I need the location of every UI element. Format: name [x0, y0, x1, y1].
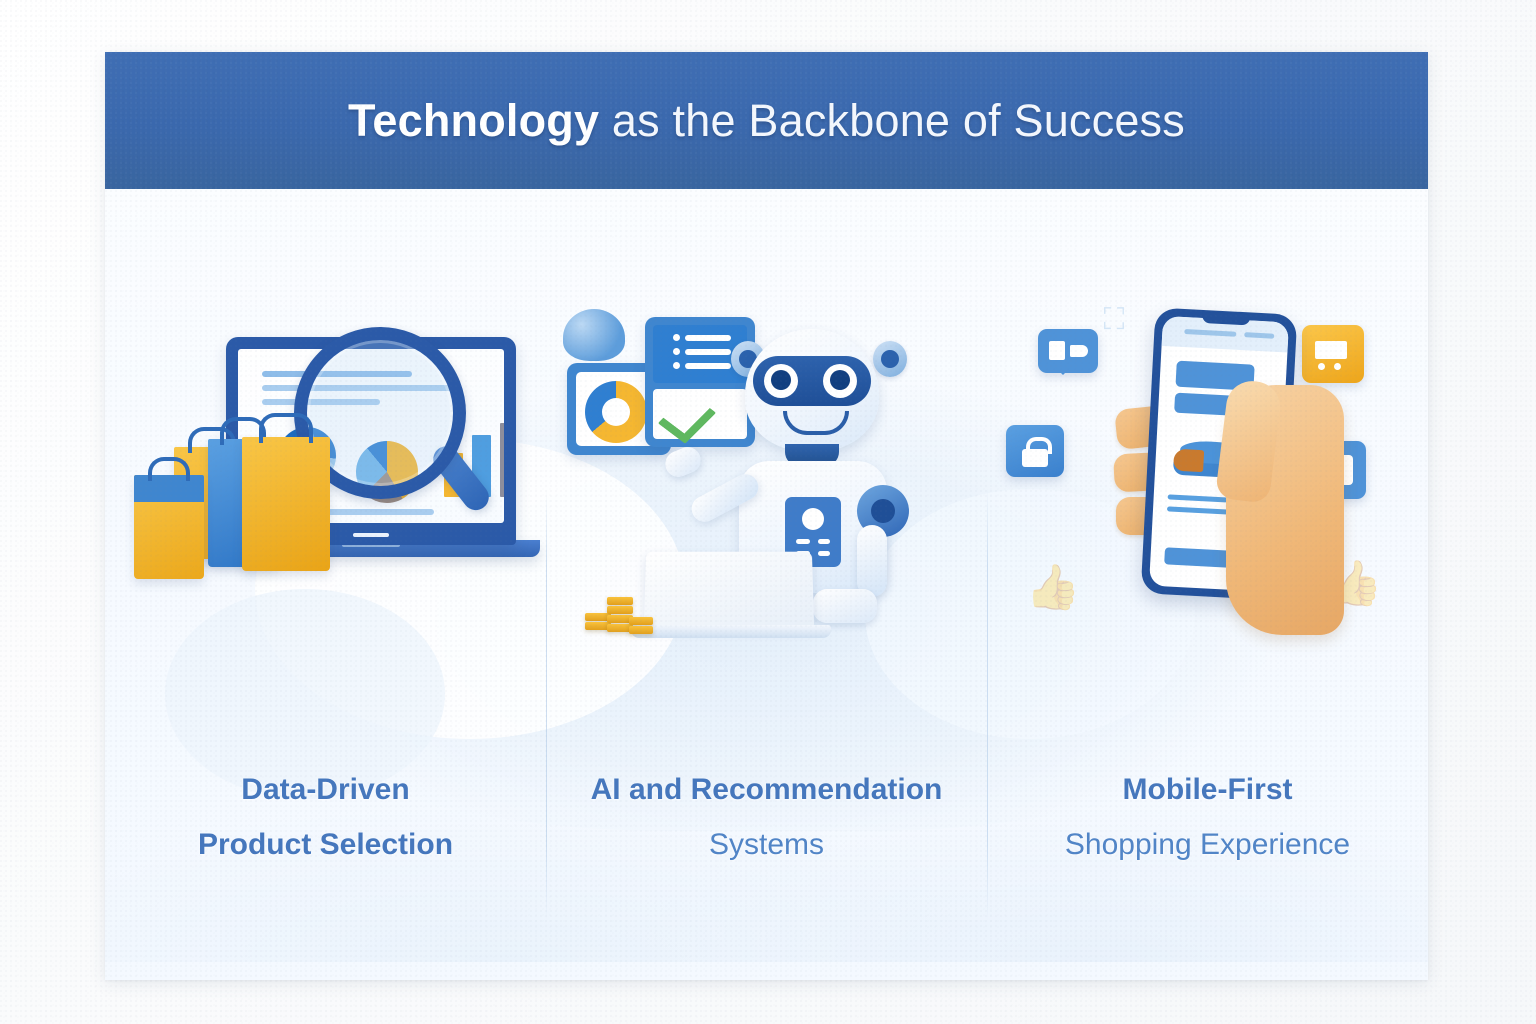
brain-icon [563, 309, 625, 361]
page-title: Technology as the Backbone of Success [348, 95, 1185, 147]
illustration-laptop-analytics-shopping-bags [105, 289, 546, 719]
chat-bubble-icon-left [1038, 329, 1098, 373]
thumbs-up-icon-ghost: 👍 [1026, 561, 1081, 613]
laptop-screen [643, 552, 813, 628]
columns-container: Data-Driven Product Selection [105, 189, 1428, 980]
robot-visor [753, 356, 871, 406]
checklist-card [645, 317, 755, 447]
lock-icon [1006, 425, 1064, 477]
shopping-bag-icon-small [134, 475, 204, 579]
slide-card: Technology as the Backbone of Success [105, 52, 1428, 980]
caption-rest-3: Shopping Experience [1018, 818, 1397, 873]
column-mobile-first-shopping-experience[interactable]: 👍 👍 ✚ ⛶ [987, 189, 1428, 980]
page-title-bold: Technology [348, 95, 599, 146]
slide-body: Data-Driven Product Selection [105, 189, 1428, 980]
column-data-driven-product-selection[interactable]: Data-Driven Product Selection [105, 189, 546, 980]
caption-bold-3: Mobile-First [1018, 763, 1397, 818]
laptop-base [631, 625, 831, 638]
column-divider-2 [987, 489, 988, 919]
robot-arm-right [857, 525, 887, 597]
shopping-cart-icon [1302, 325, 1364, 383]
caption-rest-1: Product Selection [136, 818, 515, 873]
column-ai-and-recommendation-systems[interactable]: AI and Recommendation Systems [546, 189, 987, 980]
column-caption-1: Data-Driven Product Selection [136, 763, 515, 872]
robot-icon [745, 329, 879, 451]
slide-header: Technology as the Backbone of Success [105, 52, 1428, 189]
robot-eye-right [823, 364, 857, 398]
bookmark-icon-ghost: ⛶ [1104, 303, 1125, 337]
column-caption-2: AI and Recommendation Systems [577, 763, 956, 872]
laptop-icon [631, 551, 831, 637]
illustration-hand-holding-smartphone: 👍 👍 ✚ ⛶ [987, 289, 1428, 719]
robot-ear-right [873, 341, 907, 377]
column-caption-3: Mobile-First Shopping Experience [1018, 763, 1397, 872]
caption-bold-2: AI and Recommendation [577, 763, 956, 818]
robot-eye-left [764, 364, 798, 398]
laptop-trackpad-notch [353, 533, 389, 537]
illustration-robot-at-laptop [546, 289, 987, 719]
robot-smile [783, 411, 849, 435]
page-title-rest: as the Backbone of Success [599, 95, 1185, 146]
caption-rest-2: Systems [577, 818, 956, 873]
column-divider-1 [546, 489, 547, 919]
caption-bold-1: Data-Driven [136, 763, 515, 818]
shopping-bag-icon-front [242, 437, 330, 571]
coin-stack-icon [585, 589, 651, 637]
